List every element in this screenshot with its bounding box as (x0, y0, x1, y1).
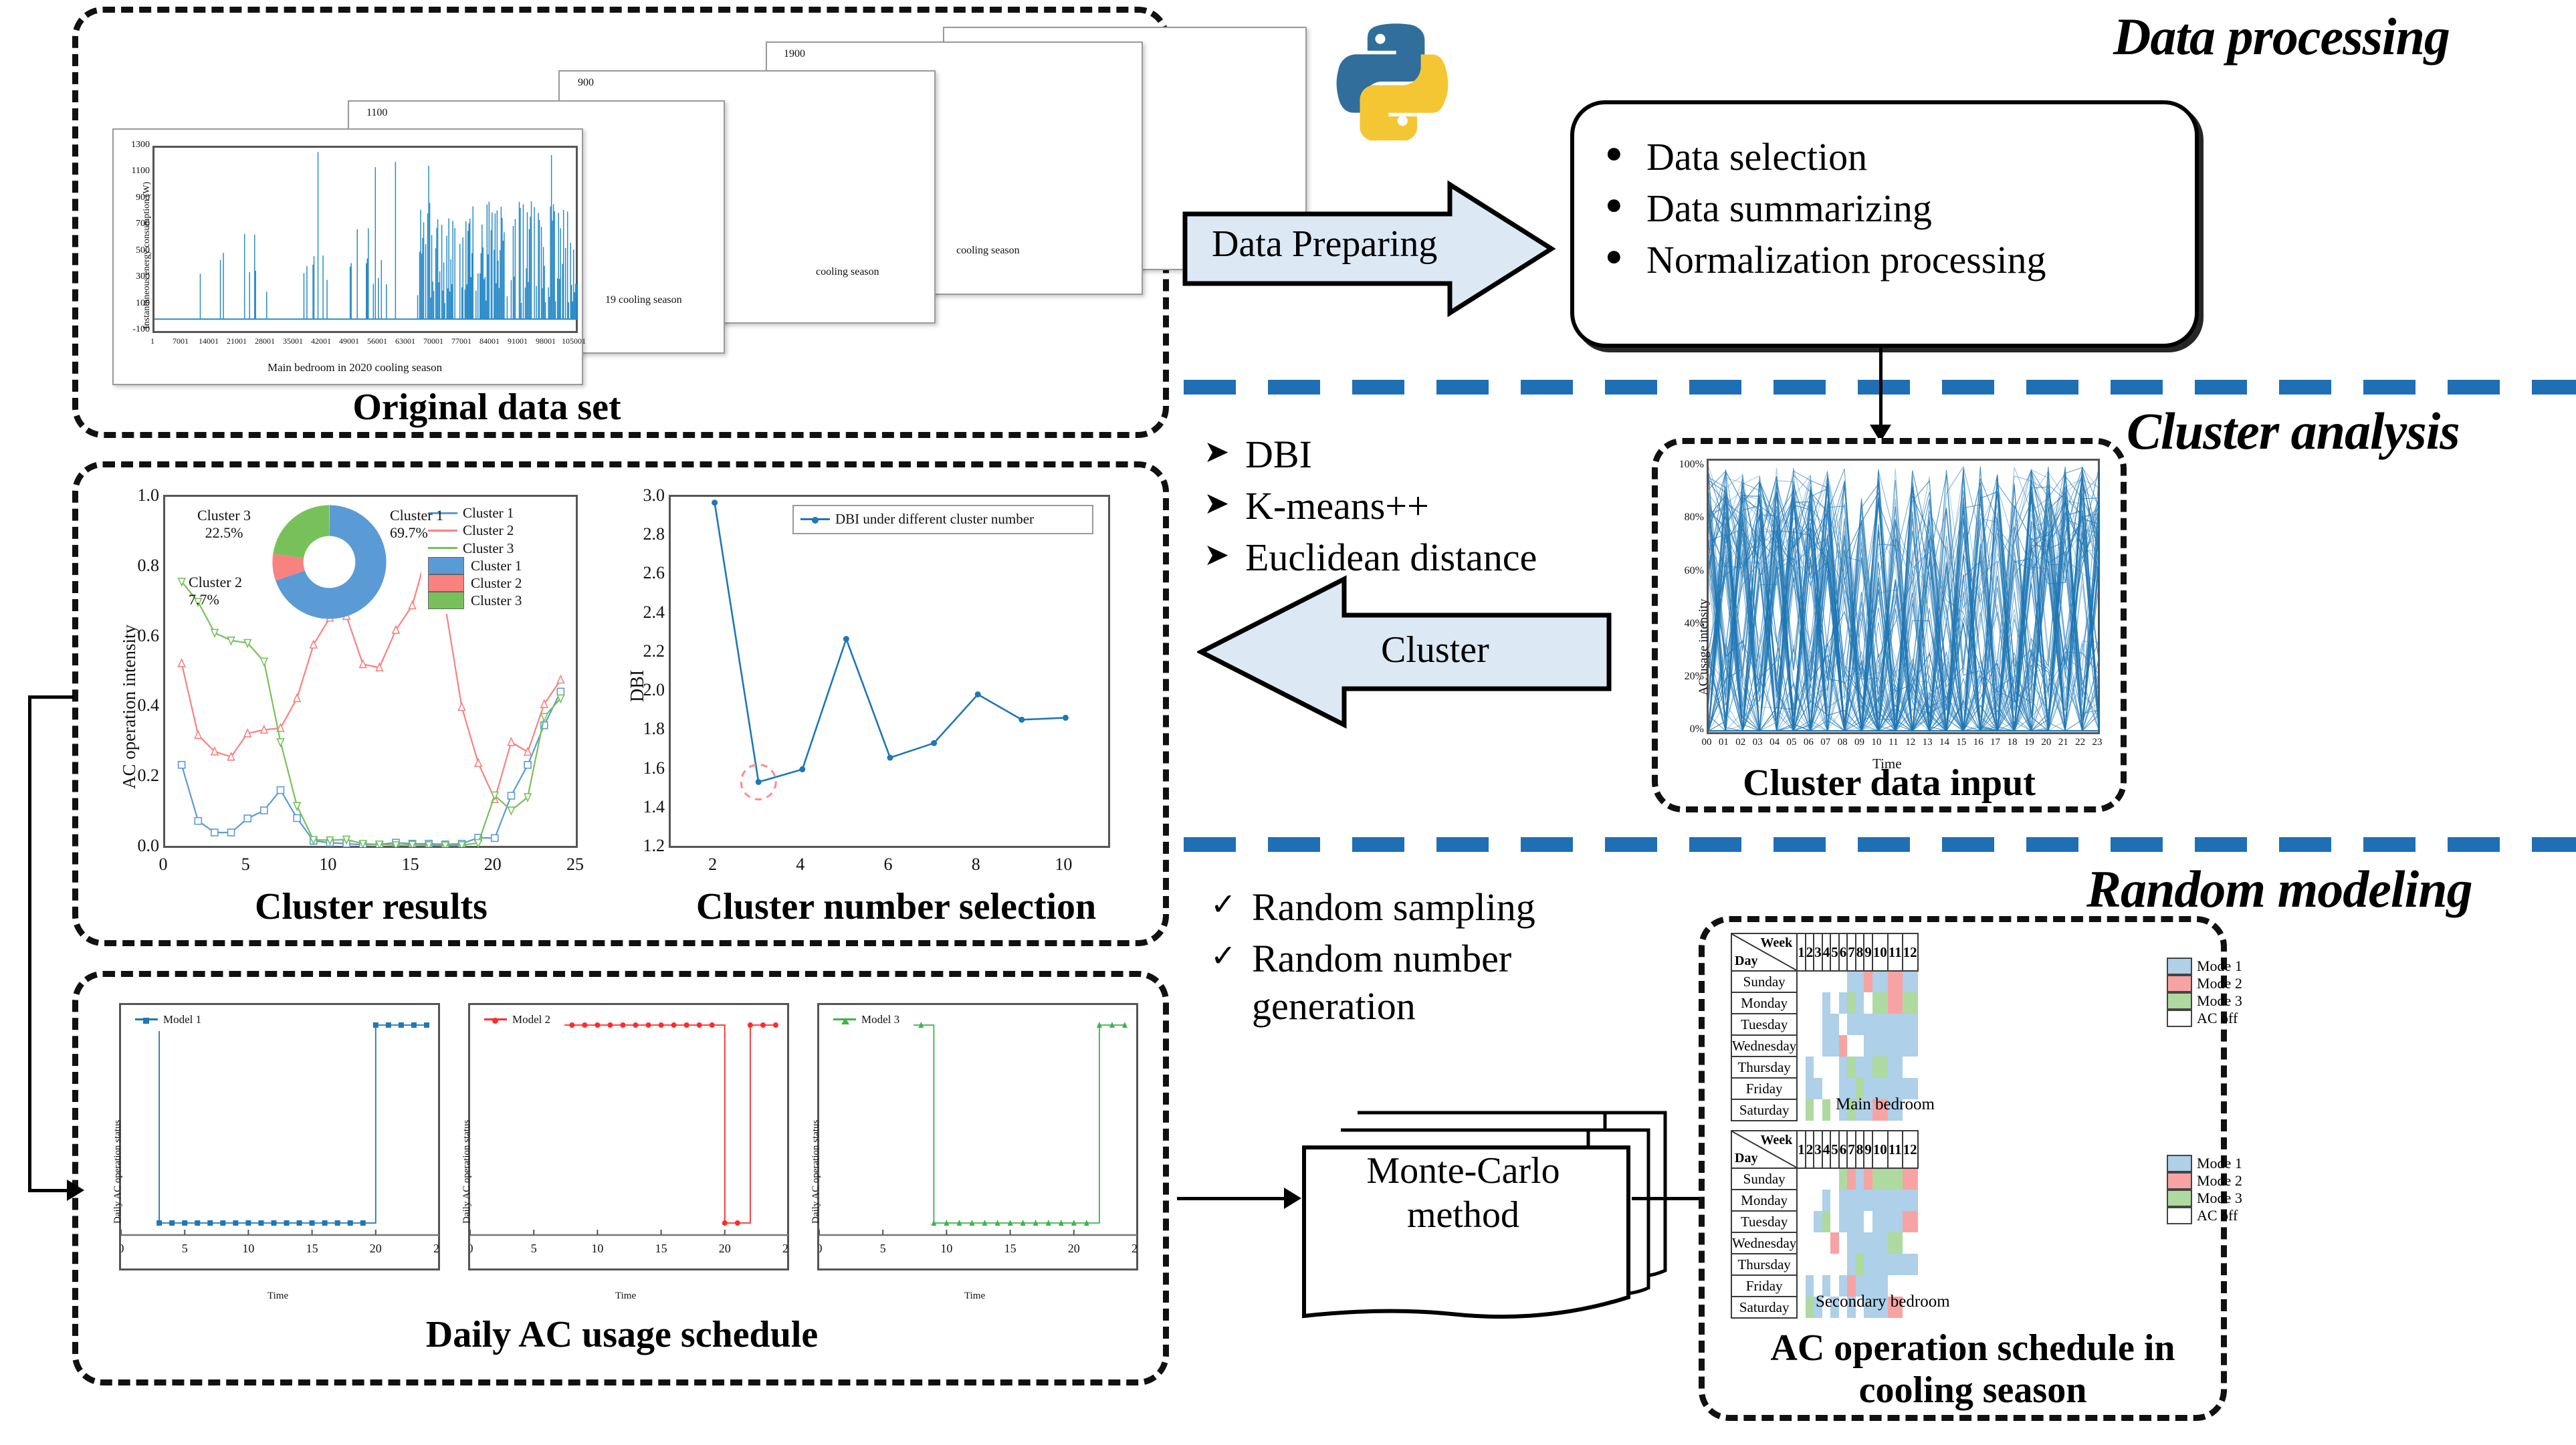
axis-tick: 11 (1889, 737, 1898, 748)
axis-tick: 23 (2092, 737, 2103, 748)
arrowhead-right-icon (1284, 1188, 1301, 1209)
data-processing-ops-list: ●Data selection ●Data summarizing ●Norma… (1605, 134, 2193, 288)
schedule-cell (1830, 971, 1839, 992)
table-row: Thursday (1731, 1254, 1918, 1275)
schedule-cell (1888, 1035, 1903, 1057)
schedule-cell (1830, 1168, 1839, 1190)
axis-tick: 1.8 (643, 719, 665, 739)
schedule-cell (1822, 1254, 1831, 1275)
schedule-cell (1839, 971, 1848, 992)
schedule-cell (1839, 1168, 1848, 1190)
schedule-cell (1839, 1211, 1848, 1232)
back-chart-4-xlabel: cooling season (956, 245, 1020, 257)
schedule-cell (1830, 1057, 1839, 1078)
daily-model-1-xlabel: Time (267, 1291, 288, 1302)
schedule-cell (1806, 992, 1814, 1014)
caption-cluster-number-selection: Cluster number selection (669, 886, 1123, 928)
schedule-cell (1888, 1211, 1903, 1232)
schedule-cell (1797, 1190, 1806, 1211)
schedule-cell (1814, 1232, 1822, 1254)
axis-tick: -100 (132, 324, 150, 335)
svg-text:10: 10 (940, 1242, 952, 1255)
legend-line-model-2 (484, 1018, 507, 1020)
axis-tick: 0.4 (138, 695, 160, 715)
schedule-cell (1806, 1078, 1814, 1099)
axis-tick: 08 (1838, 737, 1848, 748)
table-row: Wednesday (1731, 1232, 1918, 1254)
table-header-row: WeekDay123456789101112 (1731, 1131, 1918, 1168)
schedule-cell (1806, 1035, 1814, 1057)
svg-text:15: 15 (306, 1242, 318, 1255)
schedule-cell (1822, 1035, 1831, 1057)
legend-line-cluster-3 (428, 547, 457, 549)
donut-label-cluster-3: Cluster 3 22.5% (197, 507, 251, 542)
axis-tick: 0.0 (138, 836, 160, 856)
schedule-cell (1822, 992, 1831, 1014)
axis-tick: 4 (796, 855, 804, 875)
week-header-cell: 5 (1830, 933, 1839, 971)
axis-tick: 1 (150, 336, 154, 346)
legend-swatch-cluster-1 (428, 557, 464, 574)
svg-text:25: 25 (782, 1242, 788, 1255)
axis-tick: 22 (2075, 737, 2085, 748)
schedule-cell (1839, 1232, 1848, 1254)
schedule-cell (1856, 971, 1864, 992)
schedule-cell (1806, 1254, 1814, 1275)
schedule-legend-main: Mode 1 Mode 2 Mode 3 AC off (2167, 958, 2242, 1027)
week-header-cell: 7 (1847, 933, 1856, 971)
legend-item: Cluster 2 (428, 574, 565, 592)
schedule-cell (1903, 992, 1918, 1014)
legend-line-model-1 (135, 1018, 158, 1020)
schedule-cell (1872, 1190, 1888, 1211)
schedule-cell (1822, 1211, 1831, 1232)
legend-swatch-cluster-2 (428, 574, 464, 592)
schedule-cell (1856, 1035, 1864, 1057)
check-icon: ✓ (1210, 935, 1252, 977)
schedule-cell (1797, 1211, 1806, 1232)
cluster-results-legend: Cluster 1 Cluster 2 Cluster 3 Cluster 1 … (421, 500, 572, 614)
bullet-dot-icon: ● (1605, 185, 1646, 225)
day-label-cell: Saturday (1731, 1297, 1797, 1318)
divider-cluster-analysis (1184, 837, 2576, 852)
caption-cluster-data-input: Cluster data input (1652, 762, 2127, 804)
day-label-cell: Saturday (1731, 1099, 1797, 1121)
axis-tick: 01 (1719, 737, 1729, 748)
schedule-cell (1864, 1254, 1872, 1275)
schedule-cell (1814, 1099, 1822, 1121)
axis-tick: 2.4 (643, 602, 665, 623)
donut-label-cluster-2: Cluster 2 7.7% (189, 574, 242, 608)
python-logo (1336, 20, 1457, 144)
schedule-cell (1814, 992, 1822, 1014)
schedule-cell (1872, 992, 1888, 1014)
schedule-cell (1806, 1014, 1814, 1035)
legend-line-dbi (800, 518, 830, 520)
cluster-results-ylabel: AC operation intensity (119, 625, 140, 789)
daily-model-2-plot: 051015202501 (468, 1003, 789, 1270)
axis-tick: 7001 (173, 336, 189, 346)
week-header-cell: 8 (1856, 933, 1864, 971)
schedule-cell (1797, 1254, 1806, 1275)
week-header-cell: 6 (1839, 933, 1848, 971)
axis-tick: 84001 (479, 336, 500, 346)
legend-line-model-3 (833, 1018, 856, 1020)
table-row: Monday (1731, 1190, 1918, 1211)
legend-swatch-mode-2 (2167, 975, 2192, 992)
axis-tick: 63001 (395, 336, 415, 346)
schedule-cell (1847, 1057, 1856, 1078)
schedule-cell (1888, 992, 1903, 1014)
axis-tick: 10 (319, 855, 336, 875)
schedule-cell (1806, 1057, 1814, 1078)
svg-text:20: 20 (1068, 1242, 1080, 1255)
schedule-cell (1814, 1014, 1822, 1035)
schedule-cell (1864, 992, 1872, 1014)
axis-tick: 1.0 (138, 485, 160, 506)
table-corner-header: WeekDay (1731, 1131, 1797, 1168)
table-corner-header: WeekDay (1731, 933, 1797, 971)
day-label-cell: Sunday (1731, 971, 1797, 992)
back-chart-2-xlabel: 19 cooling season (605, 294, 682, 306)
legend-item: AC off (2167, 1207, 2242, 1224)
legend-item: Mode 3 (2167, 992, 2242, 1010)
schedule-cell (1822, 1078, 1831, 1099)
schedule-cell (1903, 971, 1918, 992)
axis-tick: 12 (1905, 737, 1915, 748)
day-label-cell: Thursday (1731, 1057, 1797, 1078)
schedule-cell (1797, 1099, 1806, 1121)
schedule-cell (1806, 971, 1814, 992)
original-data-xlabel: Main bedroom in 2020 cooling season (267, 361, 442, 374)
legend-swatch-mode-3 (2167, 1190, 2192, 1207)
day-label-cell: Sunday (1731, 1168, 1797, 1190)
axis-tick: 0.6 (138, 626, 160, 646)
schedule-cell (1872, 1232, 1888, 1254)
week-header-cell: 12 (1903, 1131, 1918, 1168)
legend-swatch-mode-1 (2167, 958, 2192, 975)
schedule-cell (1797, 992, 1806, 1014)
arrowhead-right-icon (67, 1180, 84, 1201)
caption-daily-ac-usage-schedule: Daily AC usage schedule (207, 1314, 1037, 1356)
axis-tick: 80% (1685, 512, 1704, 524)
week-header-cell: 3 (1814, 1131, 1822, 1168)
schedule-cell (1822, 971, 1831, 992)
axis-tick: 21 (2058, 737, 2068, 748)
table-row: Sunday (1731, 1168, 1918, 1190)
week-header-cell: 1 (1797, 933, 1806, 971)
schedule-cell (1814, 1168, 1822, 1190)
back-chart-3-xlabel: cooling season (816, 266, 879, 278)
day-label-cell: Friday (1731, 1275, 1797, 1297)
svg-text:25: 25 (1132, 1242, 1138, 1255)
list-item: ✓Random sampling (1210, 884, 1665, 931)
schedule-cell (1797, 1014, 1806, 1035)
random-modeling-list: ✓Random sampling ✓Random number generati… (1210, 884, 1665, 1034)
schedule-cell (1856, 1254, 1864, 1275)
schedule-cell (1814, 1254, 1822, 1275)
legend-item: Cluster 2 (428, 522, 565, 539)
svg-text:15: 15 (655, 1242, 667, 1255)
week-header-cell: 12 (1903, 933, 1918, 971)
axis-tick: 700 (136, 219, 150, 229)
table-row: Wednesday (1731, 1035, 1918, 1057)
list-item: ➤Euclidean distance (1204, 534, 1672, 582)
schedule-cell (1830, 1254, 1839, 1275)
day-label-cell: Monday (1731, 992, 1797, 1014)
schedule-cell (1847, 1211, 1856, 1232)
axis-tick: 1.4 (643, 797, 665, 817)
schedule-cell (1814, 1078, 1822, 1099)
axis-tick: 1100 (132, 166, 150, 177)
week-header-cell: 9 (1864, 933, 1872, 971)
schedule-cell (1814, 971, 1822, 992)
axis-tick: 20 (2041, 737, 2051, 748)
axis-tick: 56001 (367, 336, 387, 346)
week-header-cell: 9 (1864, 1131, 1872, 1168)
table-row: Tuesday (1731, 1014, 1918, 1035)
original-data-plot (152, 146, 578, 333)
section-title-cluster-analysis: Cluster analysis (2127, 401, 2460, 461)
schedule-cell (1903, 1232, 1918, 1254)
schedule-cell (1797, 1297, 1806, 1318)
schedule-cell (1822, 1232, 1831, 1254)
bullet-dot-icon: ● (1605, 134, 1646, 173)
axis-tick: 70001 (423, 336, 443, 346)
week-header-cell: 7 (1847, 1131, 1856, 1168)
svg-text:0: 0 (819, 1242, 823, 1255)
schedule-cell (1847, 1254, 1856, 1275)
legend-item: Mode 2 (2167, 1172, 2242, 1190)
legend-item: Model 3 (833, 1012, 907, 1026)
legend-item: Mode 2 (2167, 975, 2242, 992)
day-label-cell: Tuesday (1731, 1014, 1797, 1035)
feedback-connector-vertical (28, 695, 31, 1190)
axis-tick: 19 (2024, 737, 2034, 748)
cluster-number-selection-plot (669, 495, 1110, 848)
week-header-cell: 1 (1797, 1131, 1806, 1168)
schedule-cell (1814, 1190, 1822, 1211)
dbi-legend: DBI under different cluster number (792, 505, 1093, 534)
svg-text:20: 20 (719, 1242, 731, 1255)
axis-tick: 09 (1854, 737, 1864, 748)
corner-week-label: Week (1761, 935, 1793, 951)
axis-tick: 07 (1820, 737, 1830, 748)
legend-item: Cluster 3 (428, 592, 565, 609)
schedule-cell (1888, 1057, 1903, 1078)
axis-tick: 100% (1679, 459, 1704, 471)
schedule-cell (1903, 1190, 1918, 1211)
axis-tick: 03 (1753, 737, 1763, 748)
axis-tick: 105001 (562, 336, 586, 346)
schedule-cell (1856, 1168, 1864, 1190)
axis-tick: 20% (1685, 671, 1704, 683)
axis-tick: 25 (566, 855, 584, 875)
schedule-cell (1806, 1232, 1814, 1254)
schedule-cell (1847, 1168, 1856, 1190)
schedule-cell (1888, 1232, 1903, 1254)
schedule-cell (1872, 971, 1888, 992)
check-icon: ✓ (1210, 884, 1252, 925)
schedule-legend-secondary: Mode 1 Mode 2 Mode 3 AC off (2167, 1155, 2242, 1224)
axis-tick: 20 (484, 855, 502, 875)
week-header-cell: 6 (1839, 1131, 1848, 1168)
axis-tick: 2 (708, 855, 717, 875)
back-chart-1-ytop: 1100 (366, 107, 387, 119)
axis-tick: 5 (241, 855, 250, 875)
svg-text:25: 25 (433, 1242, 439, 1255)
axis-tick: 2.6 (643, 563, 665, 583)
schedule-cell (1830, 992, 1839, 1014)
schedule-cell (1797, 1232, 1806, 1254)
schedule-cell (1814, 1057, 1822, 1078)
axis-tick: 2.0 (643, 680, 665, 700)
axis-tick: 0.8 (138, 556, 160, 576)
week-header-cell: 11 (1888, 1131, 1903, 1168)
legend-item: AC off (2167, 1010, 2242, 1027)
axis-tick: 3.0 (643, 485, 665, 506)
arrow-bullet-icon: ➤ (1204, 483, 1245, 524)
legend-swatch-mode-2 (2167, 1172, 2192, 1190)
list-item: ●Normalization processing (1605, 237, 2193, 284)
legend-item: Cluster 1 (428, 504, 565, 522)
axis-tick: 42001 (311, 336, 331, 346)
section-title-random-modeling: Random modeling (2086, 859, 2472, 919)
cluster-arrow-label: Cluster (1381, 629, 1489, 671)
schedule-cell (1822, 1014, 1831, 1035)
legend-item: Mode 3 (2167, 1190, 2242, 1207)
axis-tick: 77001 (451, 336, 471, 346)
legend-item: DBI under different cluster number (800, 510, 1085, 528)
schedule-cell (1822, 1168, 1831, 1190)
schedule-cell (1830, 1190, 1839, 1211)
svg-text:5: 5 (531, 1242, 537, 1255)
daily-model-2-ylabel: Daily AC operation status (461, 1120, 473, 1224)
legend-item: Mode 1 (2167, 1155, 2242, 1172)
legend-swatch-ac-off (2167, 1010, 2192, 1027)
axis-tick: 05 (1786, 737, 1796, 748)
axis-tick: 17 (1990, 737, 2000, 748)
schedule-cell (1856, 1057, 1864, 1078)
schedule-cell (1888, 1190, 1903, 1211)
schedule-cell (1806, 1211, 1814, 1232)
schedule-cell (1839, 1057, 1848, 1078)
schedule-cell (1822, 1057, 1831, 1078)
schedule-cell (1822, 1190, 1831, 1211)
schedule-cell (1797, 1057, 1806, 1078)
schedule-cell (1830, 1014, 1839, 1035)
daily-model-3-plot: 051015202501 (817, 1003, 1138, 1270)
legend-swatch-mode-1 (2167, 1155, 2192, 1172)
feedback-connector-top (28, 695, 74, 699)
connector-ops-to-cluster-input (1879, 348, 1883, 428)
table-header-row: WeekDay123456789101112 (1731, 933, 1918, 971)
legend-item: Model 1 (135, 1012, 209, 1026)
axis-tick: 91001 (508, 336, 528, 346)
axis-tick: 18 (2008, 737, 2018, 748)
schedule-cell (1872, 1168, 1888, 1190)
axis-tick: 40% (1685, 618, 1704, 630)
donut-label-cluster-1: Cluster 1 69.7% (390, 507, 443, 542)
schedule-cell (1864, 1057, 1872, 1078)
schedule-cell (1839, 1035, 1848, 1057)
schedule-cell (1830, 1035, 1839, 1057)
axis-tick: 60% (1685, 565, 1704, 577)
bullet-dot-icon: ● (1605, 237, 1646, 276)
axis-tick: 00 (1702, 737, 1712, 748)
list-item: ➤DBI (1204, 431, 1672, 479)
week-header-cell: 4 (1822, 933, 1831, 971)
schedule-cell (1847, 1014, 1856, 1035)
day-label-cell: Wednesday (1731, 1232, 1797, 1254)
axis-tick: 2.2 (643, 641, 665, 661)
schedule-cell (1903, 1211, 1918, 1232)
schedule-cell (1806, 1190, 1814, 1211)
schedule-cell (1839, 1190, 1848, 1211)
axis-tick: 49001 (339, 336, 359, 346)
table-row: Thursday (1731, 1057, 1918, 1078)
schedule-cell (1797, 1078, 1806, 1099)
daily-model-3-legend: Model 3 (827, 1008, 914, 1031)
schedule-caption-main-bedroom: Main bedroom (1836, 1095, 1935, 1114)
schedule-cell (1797, 971, 1806, 992)
schedule-cell (1814, 1035, 1822, 1057)
list-item: ➤K-means++ (1204, 483, 1672, 530)
schedule-cell (1806, 1275, 1814, 1297)
week-header-cell: 11 (1888, 933, 1903, 971)
legend-swatch-mode-3 (2167, 992, 2192, 1010)
svg-text:20: 20 (370, 1242, 382, 1255)
schedule-cell (1864, 1168, 1872, 1190)
monte-carlo-label: Monte-Carlo method (1303, 1149, 1624, 1237)
schedule-cell (1864, 1035, 1872, 1057)
schedule-cell (1872, 1254, 1888, 1275)
axis-tick: 15 (1956, 737, 1966, 748)
schedule-cell (1872, 1014, 1888, 1035)
back-chart-2-ytop: 900 (578, 77, 594, 89)
svg-text:5: 5 (880, 1242, 886, 1255)
cluster-data-input-plot (1707, 459, 2100, 734)
day-label-cell: Monday (1731, 1190, 1797, 1211)
cluster-methods-list: ➤DBI ➤K-means++ ➤Euclidean distance (1204, 431, 1672, 585)
schedule-cell (1872, 1057, 1888, 1078)
axis-tick: 02 (1735, 737, 1745, 748)
arrow-bullet-icon: ➤ (1204, 431, 1245, 473)
table-row: Tuesday (1731, 1211, 1918, 1232)
legend-item: Model 2 (484, 1012, 558, 1026)
schedule-cell (1903, 1057, 1918, 1078)
connector-to-monte-carlo (1177, 1197, 1291, 1200)
svg-text:0: 0 (121, 1242, 124, 1255)
schedule-cell (1847, 992, 1856, 1014)
schedule-cell (1856, 1232, 1864, 1254)
axis-tick: 10 (1871, 737, 1881, 748)
schedule-cell (1856, 1211, 1864, 1232)
schedule-cell (1888, 1254, 1903, 1275)
list-item: ✓Random number generation (1210, 935, 1665, 1030)
day-label-cell: Wednesday (1731, 1035, 1797, 1057)
axis-tick: 2.8 (643, 524, 665, 544)
svg-text:5: 5 (182, 1242, 188, 1255)
schedule-cell (1847, 971, 1856, 992)
svg-text:10: 10 (591, 1242, 603, 1255)
section-title-data-processing: Data processing (2113, 7, 2450, 67)
axis-tick: 1300 (131, 140, 150, 150)
axis-tick: 15 (402, 855, 419, 875)
daily-model-1-ylabel: Daily AC operation status (112, 1120, 124, 1224)
axis-tick: 21001 (227, 336, 247, 346)
daily-model-3-xlabel: Time (964, 1291, 985, 1302)
